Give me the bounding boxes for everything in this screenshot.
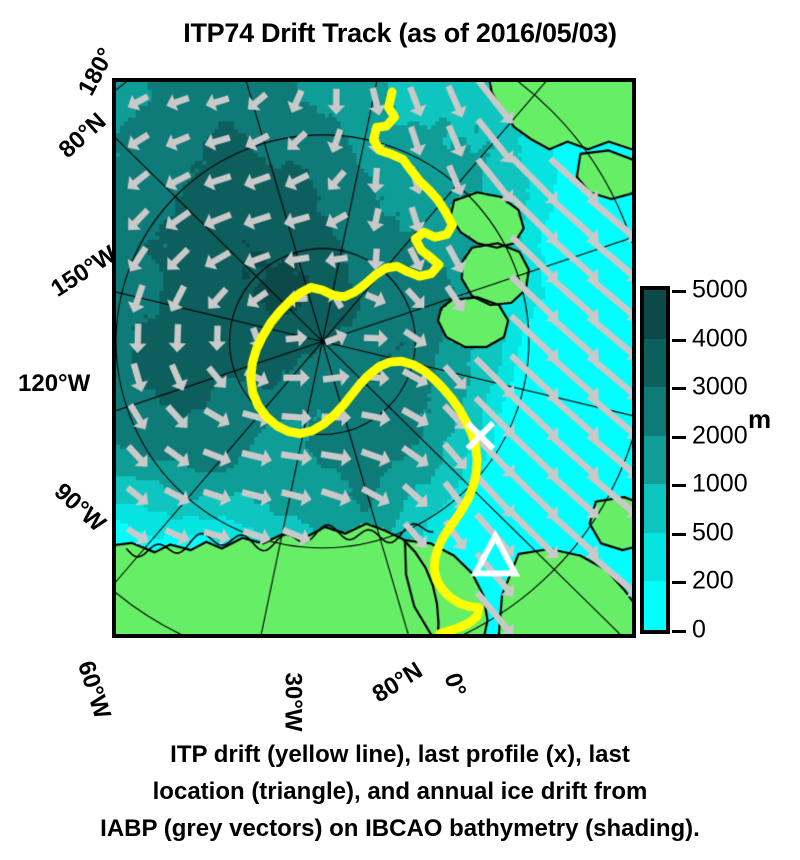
colorbar-tick-1000 bbox=[672, 484, 686, 487]
colorbar-tick-3000 bbox=[672, 387, 686, 390]
colorbar-band-6 bbox=[644, 581, 666, 630]
colorbar-band-4 bbox=[644, 484, 666, 533]
colorbar-label-0: 0 bbox=[692, 616, 706, 645]
colorbar-tick-4000 bbox=[672, 339, 686, 342]
colorbar-unit-label: m bbox=[748, 404, 771, 435]
graticule-label-80n-1: 80°N bbox=[54, 108, 113, 165]
colorbar-tick-200 bbox=[672, 581, 686, 584]
graticule-label-80n-7: 80°N bbox=[368, 657, 428, 709]
colorbar-tick-5000 bbox=[672, 290, 686, 293]
caption-line-1: ITP drift (yellow line), last profile (x… bbox=[0, 736, 800, 773]
colorbar-tick-2000 bbox=[672, 436, 686, 439]
arctic-bathymetry-map bbox=[116, 82, 632, 634]
colorbar-band-1 bbox=[644, 339, 666, 388]
colorbar-tick-500 bbox=[672, 533, 686, 536]
figure-caption: ITP drift (yellow line), last profile (x… bbox=[0, 736, 800, 847]
page-title: ITP74 Drift Track (as of 2016/05/03) bbox=[0, 18, 800, 49]
colorbar-label-1000: 1000 bbox=[692, 470, 748, 499]
graticule-label-150w-2: 150°W bbox=[46, 241, 122, 304]
graticule-label-60w-5: 60°W bbox=[71, 658, 116, 723]
colorbar-label-500: 500 bbox=[692, 518, 734, 547]
graticule-label-0-8: 0° bbox=[438, 670, 472, 700]
graticule-label-90w-4: 90°W bbox=[48, 478, 111, 538]
graticule-label-120w-3: 120°W bbox=[18, 370, 90, 398]
caption-line-3: IABP (grey vectors) on IBCAO bathymetry … bbox=[0, 810, 800, 847]
colorbar-label-3000: 3000 bbox=[692, 373, 748, 402]
colorbar-band-5 bbox=[644, 533, 666, 582]
caption-line-2: location (triangle), and annual ice drif… bbox=[0, 773, 800, 810]
colorbar-label-5000: 5000 bbox=[692, 276, 748, 305]
colorbar-label-200: 200 bbox=[692, 567, 734, 596]
colorbar-band-0 bbox=[644, 290, 666, 339]
colorbar-label-4000: 4000 bbox=[692, 324, 748, 353]
map-frame bbox=[112, 78, 636, 638]
graticule-label-30w-6: 30°W bbox=[278, 673, 306, 732]
colorbar bbox=[640, 286, 670, 634]
colorbar-tick-0 bbox=[672, 630, 686, 633]
colorbar-label-2000: 2000 bbox=[692, 421, 748, 450]
colorbar-band-3 bbox=[644, 436, 666, 485]
colorbar-band-2 bbox=[644, 387, 666, 436]
